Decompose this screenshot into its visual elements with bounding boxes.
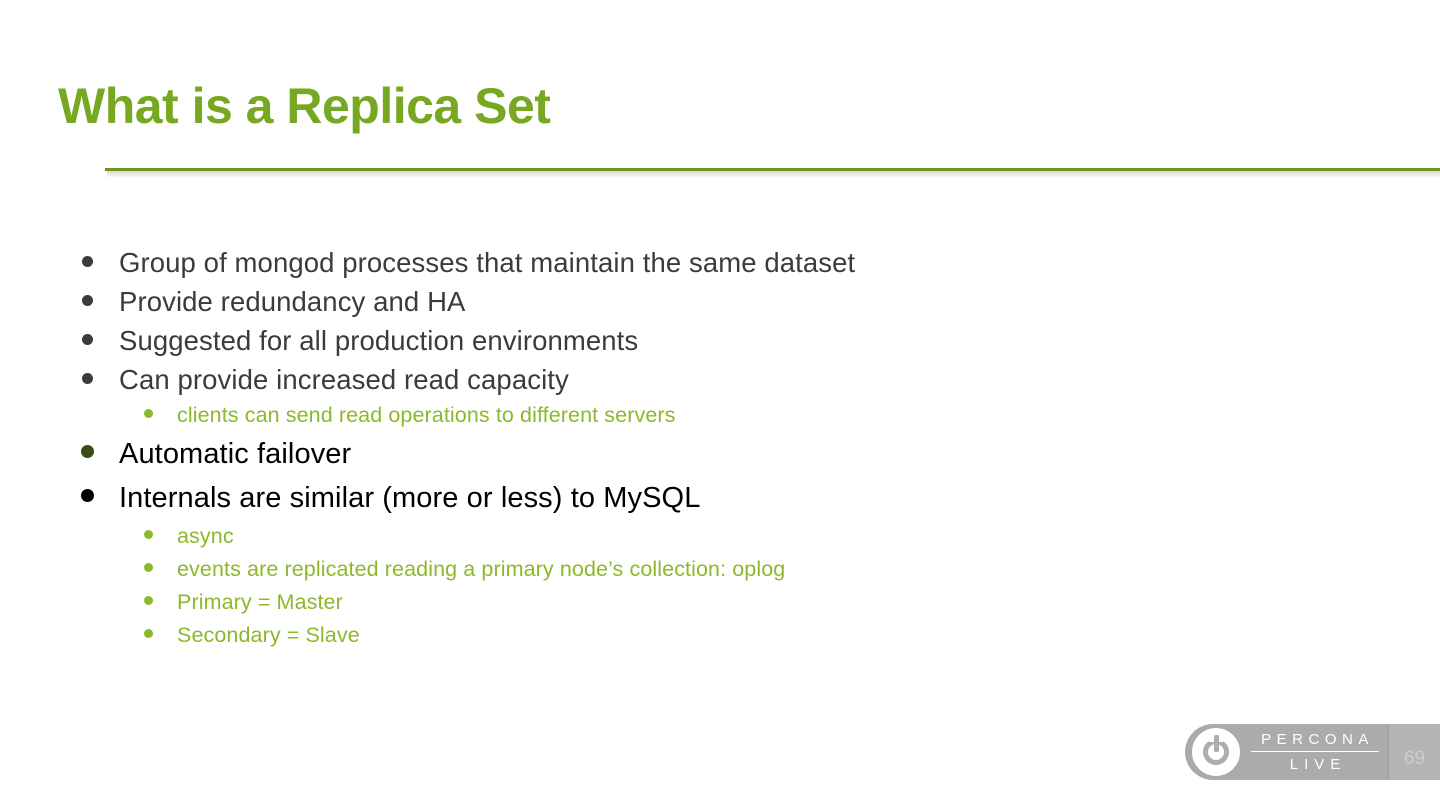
- power-stem-shape: [1214, 735, 1219, 752]
- sub-list-item-label: events are replicated reading a primary …: [177, 553, 785, 586]
- list-item-label: Can provide increased read capacity: [119, 360, 569, 399]
- page-number: 69: [1389, 724, 1440, 780]
- list-item: Internals are similar (more or less) to …: [60, 476, 1380, 520]
- sub-list-item-label: Primary = Master: [177, 586, 343, 619]
- list-item: Group of mongod processes that maintain …: [60, 243, 1380, 282]
- list-item: Provide redundancy and HA: [60, 282, 1380, 321]
- logo-brand-secondary: LIVE: [1251, 752, 1379, 775]
- bullet-marker-icon: [144, 530, 153, 539]
- bullet-marker-icon: [144, 596, 153, 605]
- logo-wordmark: PERCONA LIVE: [1251, 730, 1379, 775]
- sub-list-item: events are replicated reading a primary …: [60, 553, 1380, 586]
- sub-list-item: Secondary = Slave: [60, 619, 1380, 652]
- sub-list-item: clients can send read operations to diff…: [60, 399, 1380, 432]
- bullet-marker-icon: [82, 334, 93, 345]
- list-item-label: Group of mongod processes that maintain …: [119, 243, 855, 282]
- bullet-marker-icon: [144, 563, 153, 572]
- list-item-label: Suggested for all production environment…: [119, 321, 638, 360]
- bullet-marker-icon: [81, 445, 94, 458]
- bullet-marker-icon: [82, 295, 93, 306]
- list-item-label: Provide redundancy and HA: [119, 282, 465, 321]
- bullet-marker-icon: [144, 409, 153, 418]
- bullet-list: Group of mongod processes that maintain …: [60, 243, 1380, 652]
- list-item: Can provide increased read capacity: [60, 360, 1380, 399]
- sub-list-item-label: clients can send read operations to diff…: [177, 399, 676, 432]
- list-item: Automatic failover: [60, 432, 1380, 476]
- bullet-marker-icon: [82, 373, 93, 384]
- list-item: Suggested for all production environment…: [60, 321, 1380, 360]
- sub-list-item: Primary = Master: [60, 586, 1380, 619]
- title-divider-shadow: [107, 171, 1440, 178]
- title-divider: [105, 168, 1440, 180]
- sub-list-item-label: Secondary = Slave: [177, 619, 360, 652]
- sub-list-item-label: async: [177, 520, 234, 553]
- bullet-marker-icon: [82, 256, 93, 267]
- logo-brand-primary: PERCONA: [1251, 730, 1379, 752]
- power-button-icon: [1192, 728, 1240, 776]
- slide: What is a Replica Set Group of mongod pr…: [0, 0, 1440, 810]
- list-item-label: Automatic failover: [119, 432, 351, 476]
- bullet-marker-icon: [144, 629, 153, 638]
- bullet-marker-icon: [81, 489, 94, 502]
- sub-list-item: async: [60, 520, 1380, 553]
- list-item-label: Internals are similar (more or less) to …: [119, 476, 700, 520]
- percona-live-logo: PERCONA LIVE 69: [1185, 724, 1440, 780]
- page-title: What is a Replica Set: [58, 79, 550, 134]
